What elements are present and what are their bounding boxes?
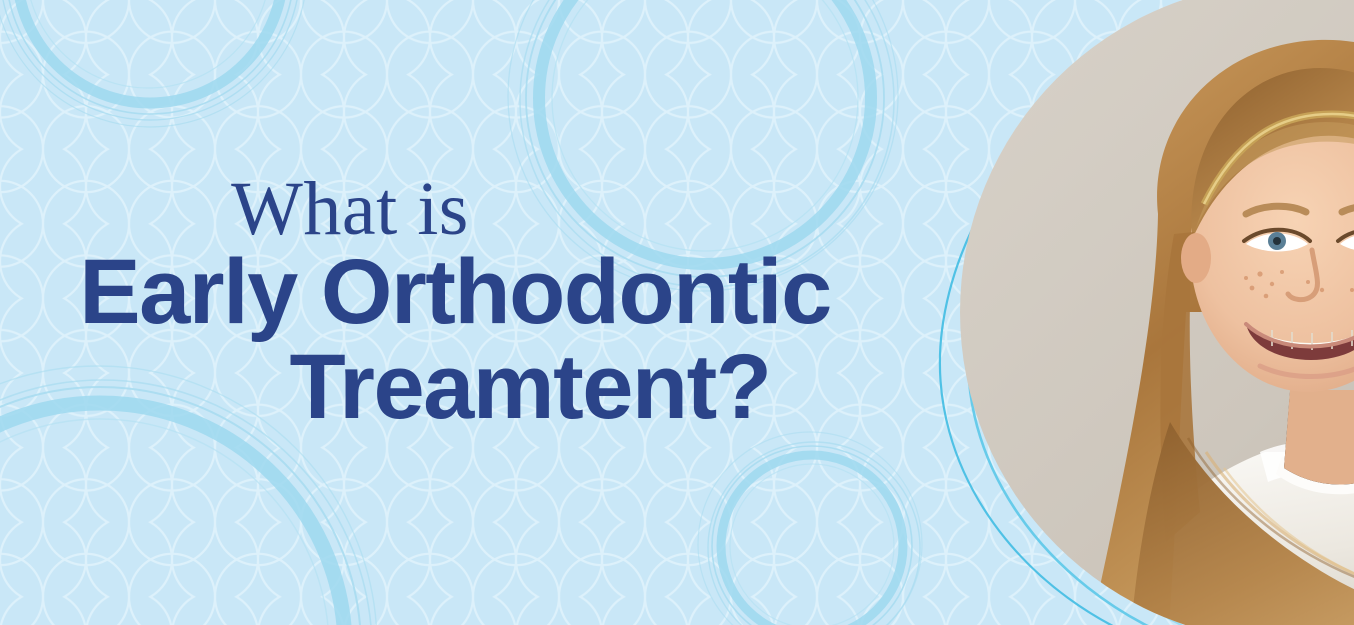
headline-eyebrow: What is: [0, 175, 900, 245]
headline-block: What is Early Orthodontic Treamtent?: [0, 175, 900, 433]
patient-photo: [960, 0, 1354, 625]
headline-title-line-1: Early Orthodontic: [0, 247, 900, 337]
hero-banner: What is Early Orthodontic Treamtent?: [0, 0, 1354, 625]
ring-top-left: [0, 0, 307, 127]
headline-title-line-2: Treamtent?: [0, 341, 900, 433]
